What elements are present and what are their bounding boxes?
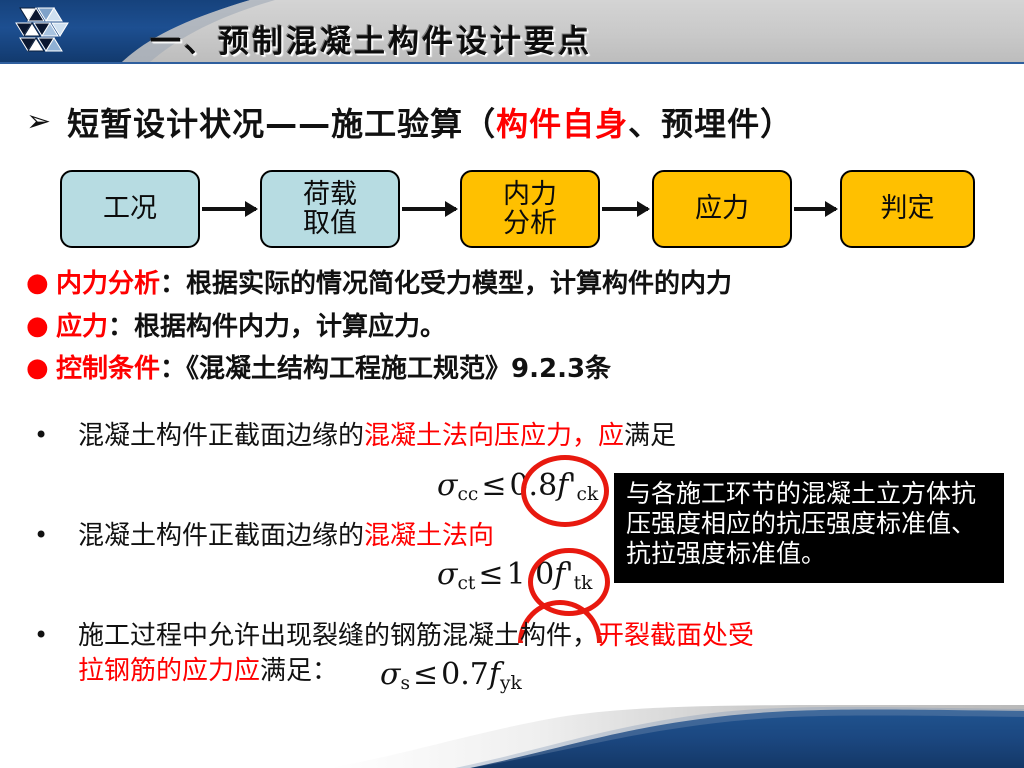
bullet-body: ：《混凝土结构工程施工规范》9.2.3条	[160, 354, 611, 384]
red-ellipse-annotation-fck	[521, 455, 609, 527]
flow-box-label-line1: 内力	[503, 180, 557, 209]
subtitle-text: 短暂设计状况——施工验算（构件自身、预埋件）	[67, 99, 793, 145]
flow-box-label-line2: 取值	[303, 209, 357, 238]
bullet-item-compression-stress: • 混凝土构件正截面边缘的混凝土法向压应力，应满足	[22, 420, 676, 453]
bullet-dot-icon: ●	[22, 268, 56, 300]
flow-box-hezaiquzhi[interactable]: 荷载 取值	[260, 170, 400, 248]
page-title: 一、预制混凝土构件设计要点	[150, 16, 592, 61]
subtitle-row: ➢ 短暂设计状况——施工验算（构件自身、预埋件）	[26, 97, 1006, 147]
line4-text: 混凝土构件正截面边缘的混凝土法向压应力，应满足	[78, 420, 676, 453]
formula-sigma: σ	[437, 468, 457, 503]
flow-arrow-2	[402, 207, 456, 211]
formula-sigma-sub: ct	[457, 573, 475, 594]
bullet-item-neilifenxi: ● 内力分析：根据实际的情况简化受力模型，计算构件的内力	[22, 268, 1012, 301]
subtitle-part1: 短暂设计状况——施工验算（	[67, 105, 496, 143]
bullet-item-cracked-section: • 施工过程中允许出现裂缝的钢筋混凝土构件，开裂截面处受	[22, 620, 1012, 653]
formula-operator: ≤	[478, 468, 509, 503]
arrow-marker-icon: ➢	[26, 107, 51, 137]
flow-arrow-3	[602, 207, 648, 211]
bullet-dot-icon: ●	[22, 311, 56, 343]
formula-sigma-sub: s	[400, 673, 410, 694]
bullet-dot-small-icon: •	[22, 420, 78, 450]
flow-box-neilifenxi[interactable]: 内力 分析	[460, 170, 600, 248]
bullet-dot-small-icon: •	[22, 620, 78, 650]
flow-box-panding[interactable]: 判定	[840, 170, 975, 248]
bullet-keyword: 内力分析	[56, 269, 160, 299]
bullet-keyword: 控制条件	[56, 354, 160, 384]
slide: 一、预制混凝土构件设计要点 ➢ 短暂设计状况——施工验算（构件自身、预埋件） 工…	[0, 0, 1024, 768]
flow-box-label-line1: 荷载	[303, 180, 357, 209]
formula-operator: ≤	[410, 657, 441, 692]
line4-red: 混凝土法向压应力，应	[364, 421, 624, 451]
hexagon-triangles-logo	[12, 4, 80, 64]
bullet-list: ● 内力分析：根据实际的情况简化受力模型，计算构件的内力 ● 应力：根据构件内力…	[22, 268, 1012, 398]
bullet-item-tensile-stress: • 混凝土构件正截面边缘的混凝土法向	[22, 520, 494, 553]
bullet-body: ：根据构件内力，计算应力。	[108, 312, 446, 342]
bullet-item-yingli: ● 应力：根据构件内力，计算应力。	[22, 311, 1012, 344]
subtitle-part2: 、预埋件）	[628, 105, 793, 143]
flow-box-label: 应力	[695, 194, 749, 223]
flow-arrow-1	[202, 207, 256, 211]
flow-box-label-line2: 分析	[503, 209, 557, 238]
line4-black1: 混凝土构件正截面边缘的	[78, 421, 364, 451]
bullet-body: ：根据实际的情况简化受力模型，计算构件的内力	[160, 269, 732, 299]
line7-text: 拉钢筋的应力应满足：	[78, 655, 338, 688]
bullet-text: 内力分析：根据实际的情况简化受力模型，计算构件的内力	[56, 268, 732, 301]
bullet-item-kongzhitiaojian: ● 控制条件：《混凝土结构工程施工规范》9.2.3条	[22, 353, 1012, 386]
line5-black1: 混凝土构件正截面边缘的	[78, 521, 364, 551]
line6-text: 施工过程中允许出现裂缝的钢筋混凝土构件，开裂截面处受	[78, 620, 754, 653]
line4-black2: 满足	[624, 421, 676, 451]
formula-symbol: f	[489, 657, 500, 692]
line6-red: 开裂截面处受	[598, 621, 754, 651]
callout-tooltip: 与各施工环节的混凝土立方体抗压强度相应的抗压强度标准值、抗拉强度标准值。	[614, 473, 1004, 583]
bullet-dot-small-icon: •	[22, 520, 78, 550]
flow-box-yingli[interactable]: 应力	[652, 170, 792, 248]
bullet-text: 控制条件：《混凝土结构工程施工规范》9.2.3条	[56, 353, 611, 386]
line7-red: 拉钢筋的应力应	[78, 656, 260, 686]
formula-coefficient: 0.7	[441, 657, 489, 692]
formula-rebar-stress: σs≤0.7fyk	[380, 657, 522, 694]
subtitle-highlight: 构件自身	[496, 105, 628, 143]
line6-black1: 施工过程中允许出现裂缝的钢筋混凝土构件，	[78, 621, 598, 651]
line7-black: 满足：	[260, 656, 338, 686]
slide-footer: 中国建筑标准设计研究院 CHINA INSTITUTE OF BUILDING …	[0, 705, 1024, 768]
flow-box-label: 工况	[103, 194, 157, 223]
flow-arrow-4	[794, 207, 836, 211]
flow-box-gongkuang[interactable]: 工况	[60, 170, 200, 248]
formula-symbol-sub: yk	[500, 673, 522, 694]
process-flowchart: 工况 荷载 取值 内力 分析 应力 判定	[60, 170, 975, 250]
bullet-keyword: 应力	[56, 312, 108, 342]
line5-red: 混凝土法向	[364, 521, 494, 551]
slide-header: 一、预制混凝土构件设计要点	[0, 0, 1024, 68]
line7-continuation: 拉钢筋的应力应满足：	[78, 655, 338, 688]
footer-background	[0, 705, 1024, 768]
formula-sigma: σ	[380, 657, 400, 692]
flow-box-label: 判定	[881, 194, 935, 223]
formula-operator: ≤	[475, 557, 506, 592]
bullet-text: 应力：根据构件内力，计算应力。	[56, 311, 446, 344]
line5-text: 混凝土构件正截面边缘的混凝土法向	[78, 520, 494, 553]
bullet-dot-icon: ●	[22, 353, 56, 385]
formula-sigma: σ	[437, 557, 457, 592]
formula-sigma-sub: cc	[457, 484, 478, 505]
